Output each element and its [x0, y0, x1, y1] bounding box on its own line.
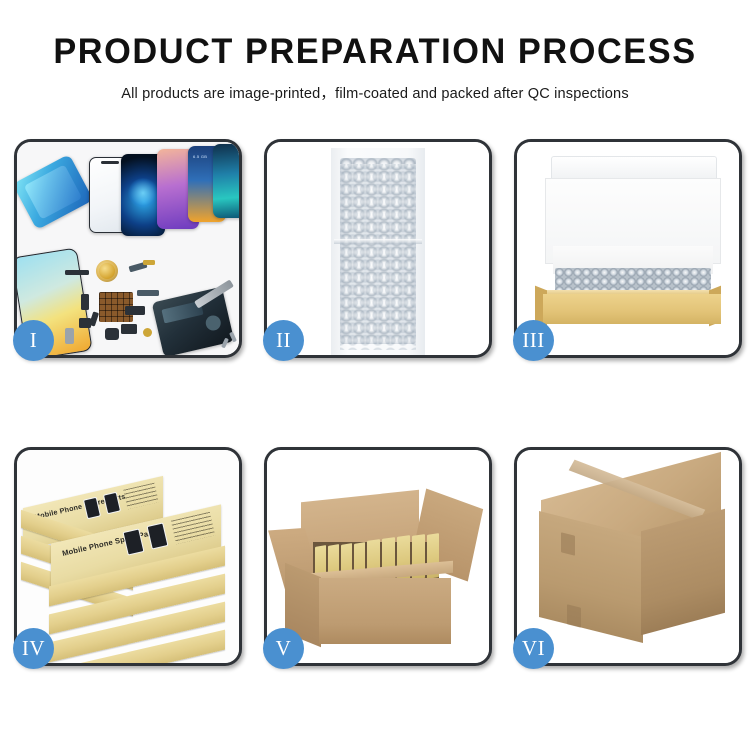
step-panel-5[interactable]: V: [264, 447, 492, 666]
step-badge-3: III: [513, 320, 554, 361]
header: PRODUCT PREPARATION PROCESS All products…: [0, 0, 750, 103]
speaker-coil-part: [96, 260, 118, 282]
screw-part-1: [143, 328, 152, 337]
earpiece-mesh-part: [65, 270, 89, 275]
vibration-motor-part: [121, 324, 137, 334]
step-image-bubble-wrap-packing: [267, 142, 489, 355]
step-badge-1: I: [13, 320, 54, 361]
step-badge-4: IV: [13, 628, 54, 669]
flex-cable-part-2: [137, 290, 159, 296]
camera-module-part: [105, 328, 119, 340]
step-badge-5: V: [263, 628, 304, 669]
bubble-wrap-texture-overlay: [340, 164, 416, 350]
carton-front-panel: [319, 578, 451, 644]
step-panel-3[interactable]: III: [514, 139, 742, 358]
step-panel-1[interactable]: I: [14, 139, 242, 358]
step-panel-6[interactable]: VI: [514, 447, 742, 666]
step-image-carton-filling: [267, 450, 489, 663]
step-image-carton-sealed: [517, 450, 739, 663]
phone-screen-teal-image: [213, 144, 239, 218]
sealed-carton-right: [641, 509, 725, 636]
flex-connector-gold-1: [143, 260, 155, 265]
step-image-boxes-stacked: Mobile Phone Spare Parts Mobile Phone Sp…: [17, 450, 239, 663]
sim-tray-part: [65, 328, 74, 344]
product-preparation-infographic: PRODUCT PREPARATION PROCESS All products…: [0, 0, 750, 750]
carton-seal-mark-bottom: [567, 604, 581, 627]
page-subtitle: All products are image-printed，film-coat…: [0, 82, 750, 103]
process-steps-grid: I II III: [14, 139, 742, 666]
carton-seal-mark-top: [561, 532, 575, 555]
adhesive-frame-image: [17, 154, 93, 230]
step-image-inner-box-packing: [517, 142, 739, 355]
step-panel-2[interactable]: II: [264, 139, 492, 358]
step-badge-2: II: [263, 320, 304, 361]
bubble-wrap-seam: [334, 239, 422, 244]
box-stack: Mobile Phone Spare Parts Mobile Phone Sp…: [21, 462, 239, 662]
box-front-panel: [543, 294, 721, 324]
step-image-products-and-spare-parts: [17, 142, 239, 355]
small-part-1: [81, 294, 89, 310]
button-flex-part: [125, 306, 145, 315]
step-badge-6: VI: [513, 628, 554, 669]
small-part-3: [79, 318, 91, 328]
step-panel-4[interactable]: Mobile Phone Spare Parts Mobile Phone Sp…: [14, 447, 242, 666]
page-title: PRODUCT PREPARATION PROCESS: [8, 34, 743, 71]
